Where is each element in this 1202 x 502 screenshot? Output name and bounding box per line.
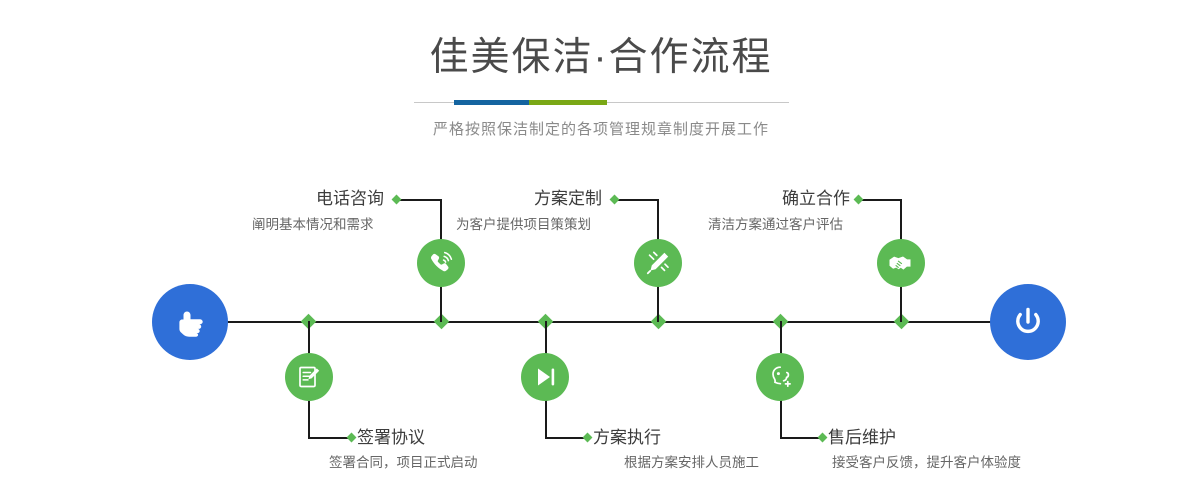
step-5-icon-badge[interactable] xyxy=(877,239,925,287)
step-5-desc: 清洁方案通过客户评估 xyxy=(708,218,843,232)
pencil-design-icon xyxy=(644,249,672,277)
step-3-desc: 为客户提供项目策策划 xyxy=(456,218,591,232)
step-2-anchor-dot xyxy=(347,433,357,443)
play-execute-icon xyxy=(531,363,559,391)
pointing-hand-icon xyxy=(170,302,210,342)
step-5-connector xyxy=(860,199,901,201)
timeline-end-node[interactable] xyxy=(990,284,1066,360)
step-4-anchor-dot xyxy=(583,433,593,443)
power-icon xyxy=(1008,302,1048,342)
step-1-anchor-dot xyxy=(392,195,402,205)
step-3-connector xyxy=(616,199,658,201)
step-1-connector xyxy=(398,199,441,201)
step-1-desc: 阐明基本情况和需求 xyxy=(252,218,374,232)
step-5-anchor-dot xyxy=(854,195,864,205)
step-1-icon-badge[interactable] xyxy=(417,239,465,287)
step-6-icon-badge[interactable] xyxy=(756,353,804,401)
step-4-desc: 根据方案安排人员施工 xyxy=(624,456,759,470)
phone-call-icon xyxy=(427,249,455,277)
step-6-desc: 接受客户反馈，提升客户体验度 xyxy=(832,456,1021,470)
step-3-anchor-dot xyxy=(610,195,620,205)
step-6-anchor-dot xyxy=(818,433,828,443)
step-2-title: 签署协议 xyxy=(357,429,425,446)
step-6-title: 售后维护 xyxy=(828,429,896,446)
step-4-icon-badge[interactable] xyxy=(521,353,569,401)
step-1-title: 电话咨询 xyxy=(316,190,384,207)
step-4-title: 方案执行 xyxy=(593,429,661,446)
contract-signing-icon xyxy=(295,363,323,391)
process-timeline: 电话咨询 阐明基本情况和需求 签署协议 签署合同，项 xyxy=(0,0,1202,502)
customer-support-icon xyxy=(766,363,794,391)
step-2-icon-badge[interactable] xyxy=(285,353,333,401)
step-5-title: 确立合作 xyxy=(782,190,850,207)
handshake-icon xyxy=(887,249,915,277)
step-2-desc: 签署合同，项目正式启动 xyxy=(329,456,478,470)
step-3-icon-badge[interactable] xyxy=(634,239,682,287)
step-3-title: 方案定制 xyxy=(534,190,602,207)
timeline-start-node[interactable] xyxy=(152,284,228,360)
flow-diagram-page: 佳美保洁·合作流程 严格按照保洁制定的各项管理规章制度开展工作 xyxy=(0,0,1202,502)
